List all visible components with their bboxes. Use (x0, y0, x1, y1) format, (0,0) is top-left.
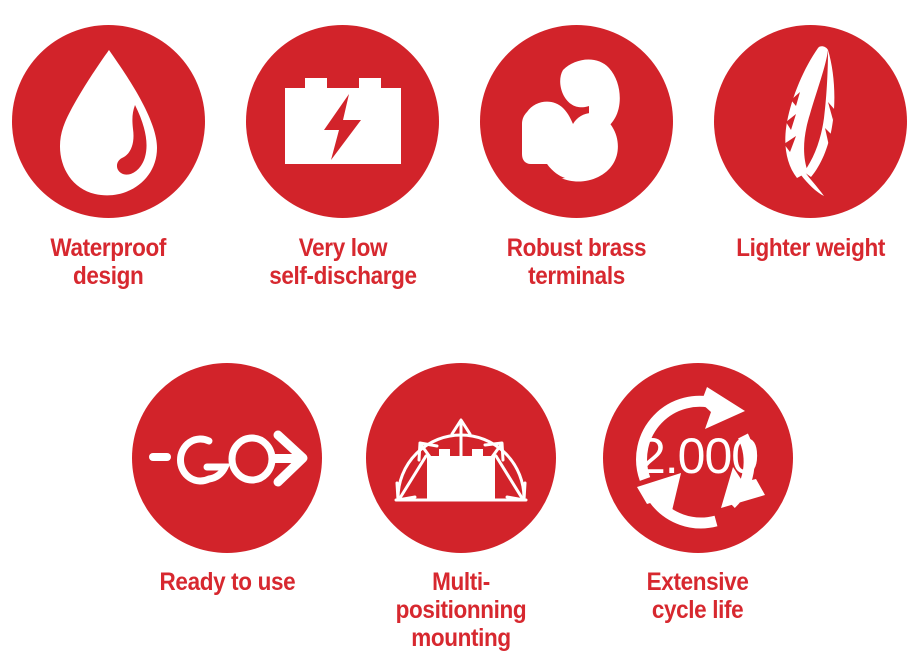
feather-icon (756, 44, 866, 199)
badge-ready-to-use (132, 363, 322, 553)
feature-lighter-weight: Lighter weight (705, 25, 915, 262)
go-arrow-icon (147, 423, 307, 493)
feature-self-discharge: Very low self-discharge (237, 25, 448, 290)
feature-caption: Lighter weight (736, 234, 885, 262)
feature-caption: Robust brass terminals (507, 234, 646, 290)
feature-caption: Ready to use (159, 568, 295, 596)
feature-terminals: Robust brass terminals (471, 25, 682, 290)
badge-terminals (480, 25, 673, 218)
feature-caption: Waterproof design (51, 234, 167, 290)
badge-cycle-life: 2.000 (603, 363, 793, 553)
badge-lighter-weight (714, 25, 907, 218)
water-drop-icon (49, 47, 169, 197)
feature-waterproof: Waterproof design (3, 25, 214, 290)
feature-cycle-life: 2.000 Extensive cycle life (598, 363, 798, 624)
battery-bolt-icon (279, 72, 407, 172)
feature-mounting: Multi-positionning mounting (361, 363, 561, 652)
multi-position-battery-arrows-icon (386, 398, 536, 518)
badge-waterproof (12, 25, 205, 218)
flexed-muscle-icon (509, 52, 644, 192)
feature-ready-to-use: Ready to use (127, 363, 327, 596)
feature-caption: Extensive cycle life (647, 568, 749, 624)
badge-self-discharge (246, 25, 439, 218)
features-infographic: Waterproof design Very low self-discharg… (0, 0, 915, 643)
feature-caption: Very low self-discharge (269, 234, 417, 290)
recycle-arrows-icon: 2.000 (623, 383, 773, 533)
feature-caption: Multi-positionning mounting (371, 568, 551, 652)
badge-mounting (366, 363, 556, 553)
cycle-count-label: 2.000 (638, 428, 758, 484)
